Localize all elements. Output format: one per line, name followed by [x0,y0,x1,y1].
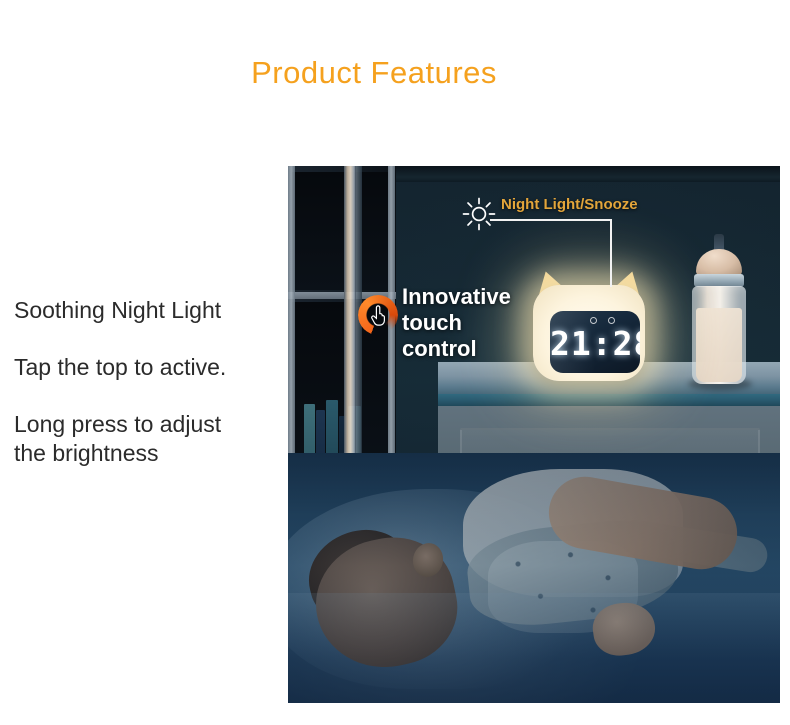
feature-text-block: Soothing Night Light Tap the top to acti… [14,296,286,468]
feature-line-night-light: Soothing Night Light [14,296,286,325]
touch-control-label: Innovative touch control [402,284,511,362]
bottle-milk-level [696,308,742,382]
callout-label-night-light-snooze: Night Light/Snooze [501,196,638,213]
clock-time-value: 21:28 [550,325,640,363]
product-features-page: Product Features Soothing Night Light Ta… [0,0,790,725]
callout-leader-vertical [610,219,612,287]
page-title: Product Features [0,55,748,91]
product-photo: 21:28 [288,166,780,703]
night-light-clock[interactable]: 21:28 [527,271,651,383]
shelf-post-left [288,166,295,496]
snooze-indicator-icon [608,317,615,324]
touch-control-badge [358,295,398,335]
callout-leader-horizontal [490,219,612,221]
baby-bottle [688,234,750,386]
blanket [288,593,780,703]
alarm-indicator-icon [590,317,597,324]
sun-icon [462,197,496,231]
clock-housing[interactable]: 21:28 [533,285,645,381]
feature-line-long-press: Long press to adjust the brightness [14,410,286,468]
shelf-cavity-upper [292,172,388,290]
hand-touch-icon [369,304,388,326]
bed-scene [288,453,780,703]
bottle-cap [696,249,742,276]
clock-display: 21:28 [550,311,640,373]
feature-line-tap-top: Tap the top to active. [14,353,286,382]
